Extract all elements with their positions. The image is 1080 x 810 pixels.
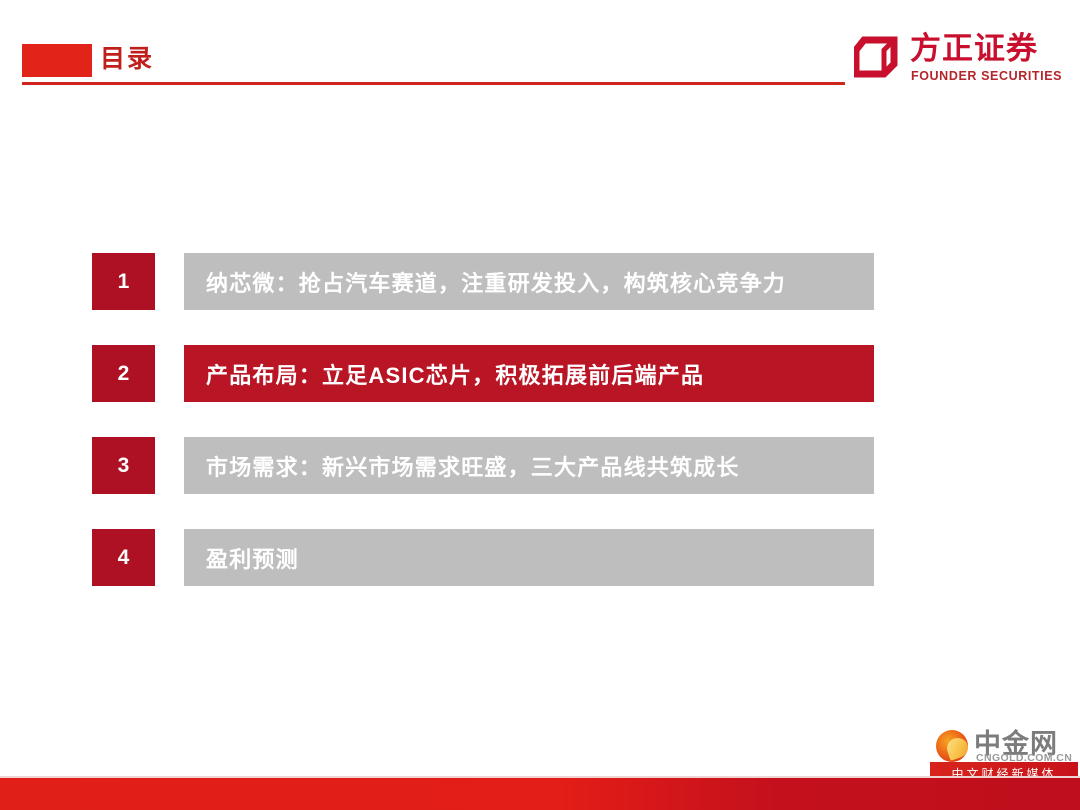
cngold-swirl-icon xyxy=(936,730,968,762)
footer-bar xyxy=(0,778,1080,810)
agenda-bar-3[interactable]: 市场需求：新兴市场需求旺盛，三大产品线共筑成长 xyxy=(184,437,874,494)
agenda-number-4: 4 xyxy=(92,529,155,586)
agenda-bar-4[interactable]: 盈利预测 xyxy=(184,529,874,586)
cngold-swirl-inner xyxy=(944,735,970,761)
agenda-bar-2[interactable]: 产品布局：立足ASIC芯片，积极拓展前后端产品 xyxy=(184,345,874,402)
slide-canvas: 目录 方正证券 FOUNDER SECURITIES 1 纳芯微：抢占汽车赛道，… xyxy=(0,0,1080,810)
watermark-top: 中金网 CNGOLD.COM.CN xyxy=(930,728,1078,764)
agenda-label-1: 纳芯微：抢占汽车赛道，注重研发投入，构筑核心竞争力 xyxy=(184,266,786,298)
agenda-bar-1[interactable]: 纳芯微：抢占汽车赛道，注重研发投入，构筑核心竞争力 xyxy=(184,253,874,310)
agenda-label-2: 产品布局：立足ASIC芯片，积极拓展前后端产品 xyxy=(184,358,704,390)
agenda-number-3: 3 xyxy=(92,437,155,494)
brand-name-en: FOUNDER SECURITIES xyxy=(911,69,1062,83)
agenda-number-1: 1 xyxy=(92,253,155,310)
page-title: 目录 xyxy=(100,40,154,78)
brand-logo: 方正证券 FOUNDER SECURITIES xyxy=(854,30,1046,90)
founder-cube-icon xyxy=(854,34,900,80)
brand-name-cn: 方正证券 xyxy=(910,30,1038,68)
header-divider xyxy=(22,82,845,85)
agenda-number-2: 2 xyxy=(92,345,155,402)
header-accent-block xyxy=(22,44,92,77)
agenda-label-3: 市场需求：新兴市场需求旺盛，三大产品线共筑成长 xyxy=(184,450,740,482)
agenda-label-4: 盈利预测 xyxy=(184,542,299,574)
